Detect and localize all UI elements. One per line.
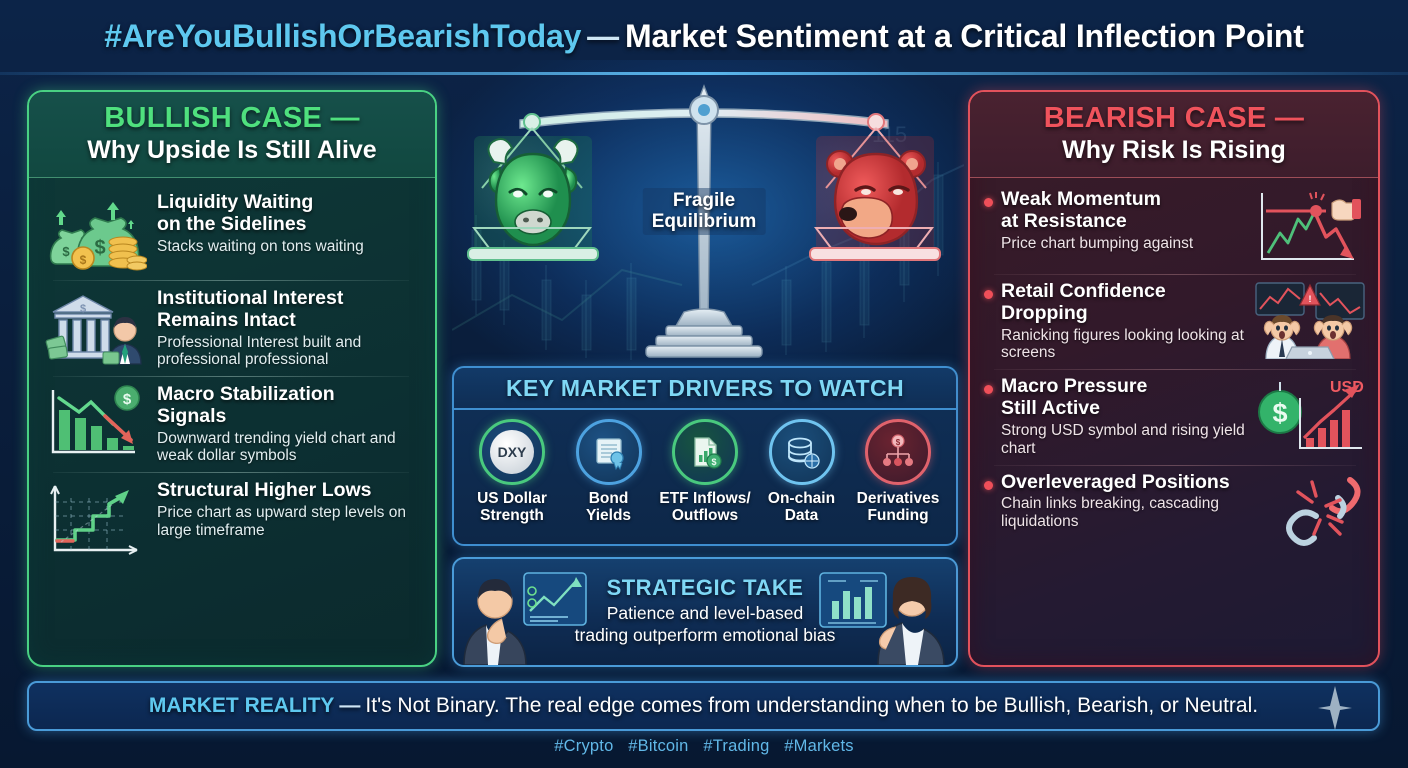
bearish-item-desc: Chain links breaking, cascading liquidat… [1001, 495, 1246, 531]
bullish-item-text: Structural Higher Lows Price chart as up… [157, 478, 419, 539]
bullish-item-title-l1: Institutional Interest [157, 288, 419, 310]
bearish-heading-line1: BEARISH CASE — [978, 102, 1370, 135]
bearish-items-list: Weak Momentum at Resistance Price chart … [970, 178, 1378, 565]
bullet-dot [984, 198, 993, 207]
bullish-item-title-l2: Remains Intact [157, 310, 419, 332]
bearish-heading-line2: Why Risk Is Rising [978, 136, 1370, 165]
strategic-take-title: STRATEGIC TAKE [454, 575, 956, 601]
driver-label-l1: Bond [561, 490, 657, 507]
fragile-equilibrium-label: Fragile Equilibrium [643, 188, 766, 235]
hashtag-trading[interactable]: #Trading [703, 737, 769, 755]
bearish-item-text: Retail Confidence Dropping Ranicking fig… [1001, 281, 1246, 362]
bearish-item-title-l1: Overleveraged Positions [1001, 472, 1246, 494]
svg-text:$: $ [62, 244, 70, 259]
bullish-item-desc: Professional Interest built and professi… [157, 334, 419, 370]
bearish-item-weak-momentum[interactable]: Weak Momentum at Resistance Price chart … [982, 182, 1368, 274]
bullish-case-panel: BULLISH CASE — Why Upside Is Still Alive… [27, 90, 437, 667]
bullish-item-title-l2: on the Sidelines [157, 214, 419, 236]
bullish-item-title-l1: Structural Higher Lows [157, 480, 419, 502]
svg-text:$: $ [80, 303, 86, 315]
drivers-grid: DXY US Dollar Strength [454, 410, 956, 524]
equilibrium-line2: Equilibrium [652, 212, 757, 233]
hashtag-row: #Crypto #Bitcoin #Trading #Markets [0, 737, 1408, 756]
svg-text:$: $ [94, 237, 105, 259]
bearish-item-text: Macro Pressure Still Active Strong USD s… [1001, 376, 1246, 457]
driver-label-l2: Data [754, 507, 850, 524]
bullish-heading-line1: BULLISH CASE — [37, 102, 427, 135]
bullish-item-title-l1: Macro Stabilization [157, 384, 419, 406]
bullish-item-macro[interactable]: $ Macro Stabilization Signals Downward t… [39, 376, 423, 472]
bullish-item-text: Macro Stabilization Signals Downward tre… [157, 382, 419, 465]
bearish-item-macro-pressure[interactable]: Macro Pressure Still Active Strong USD s… [982, 369, 1368, 464]
declining-bar-chart-dollar-icon: $ [43, 382, 147, 466]
driver-label-l2: Funding [850, 507, 946, 524]
bearish-item-desc: Price chart bumping against [1001, 235, 1246, 253]
market-reality-banner: MARKET REALITY—It's Not Binary. The real… [27, 681, 1380, 731]
bearish-case-panel: BEARISH CASE — Why Risk Is Rising Weak M… [968, 90, 1380, 667]
usd-rising-yield-icon: $ USD [1254, 376, 1366, 454]
bearish-item-desc: Strong USD symbol and rising yield chart [1001, 422, 1246, 458]
equilibrium-line1: Fragile [652, 191, 757, 212]
bullish-item-institutional[interactable]: $ [39, 280, 423, 376]
hashtag-crypto[interactable]: #Crypto [554, 737, 613, 755]
money-bags-coins-icon: $ $ $ [43, 190, 147, 274]
bearish-item-text: Weak Momentum at Resistance Price chart … [1001, 189, 1246, 252]
hashtag-bitcoin[interactable]: #Bitcoin [628, 737, 688, 755]
bullish-item-desc: Price chart as upward step levels on lar… [157, 504, 419, 540]
driver-label-l1: On-chain [754, 490, 850, 507]
strategic-take-line1: Patience and level-based [454, 603, 956, 623]
bearish-panel-header: BEARISH CASE — Why Risk Is Rising [970, 92, 1378, 178]
panicked-traders-screens-icon: ! [1254, 281, 1366, 359]
driver-derivatives-funding[interactable]: $ Derivatives Funding [850, 419, 946, 524]
driver-etf-flows[interactable]: $ ETF Inflows/ Outflows [657, 419, 753, 524]
etf-document-dollar-icon: $ [672, 419, 738, 485]
key-market-drivers-panel: KEY MARKET DRIVERS TO WATCH DXY US Dolla… [452, 366, 958, 546]
svg-text:USD: USD [1330, 379, 1364, 396]
derivatives-tree-dollar-icon: $ [865, 419, 931, 485]
svg-text:$: $ [123, 391, 132, 408]
header-divider [0, 72, 1408, 75]
breaking-chain-links-icon [1254, 472, 1366, 550]
page-title: #AreYouBullishOrBearishToday—Market Sent… [104, 18, 1303, 55]
bearish-item-retail-confidence[interactable]: Retail Confidence Dropping Ranicking fig… [982, 274, 1368, 369]
bearish-item-overleveraged[interactable]: Overleveraged Positions Chain links brea… [982, 465, 1368, 557]
driver-label-l1: US Dollar [464, 490, 560, 507]
bearish-item-title-l1: Retail Confidence [1001, 281, 1246, 303]
balance-scale-illustration: Fragile Equilibrium [452, 76, 956, 364]
falling-chart-thumbs-down-icon [1254, 189, 1366, 267]
title-dash: — [587, 18, 619, 54]
bullish-item-liquidity[interactable]: $ $ $ [39, 184, 423, 280]
bearish-item-title-l2: at Resistance [1001, 211, 1246, 233]
bullish-item-title-l1: Liquidity Waiting [157, 192, 419, 214]
sparkle-icon [1318, 686, 1352, 730]
title-main: Market Sentiment at a Critical Inflectio… [625, 18, 1304, 54]
bullish-item-desc: Downward trending yield chart and weak d… [157, 430, 419, 466]
strategic-take-panel: STRATEGIC TAKE Patience and level-based … [452, 557, 958, 667]
bullish-item-desc: Stacks waiting on tons waiting [157, 238, 419, 256]
driver-onchain-data[interactable]: On-chain Data [754, 419, 850, 524]
driver-us-dollar-strength[interactable]: DXY US Dollar Strength [464, 419, 560, 524]
title-hashtag: #AreYouBullishOrBearishToday [104, 18, 581, 54]
page-header: #AreYouBullishOrBearishToday—Market Sent… [0, 0, 1408, 72]
dxy-coin-icon: DXY [479, 419, 545, 485]
strategic-take-line2: trading outperform emotional bias [454, 625, 956, 645]
bullish-items-list: $ $ $ [29, 178, 435, 576]
market-reality-dash: — [339, 694, 360, 717]
driver-label-l1: ETF Inflows/ [657, 490, 753, 507]
driver-label-l2: Strength [464, 507, 560, 524]
driver-label-l2: Yields [561, 507, 657, 524]
bullet-dot [984, 385, 993, 394]
database-network-icon [769, 419, 835, 485]
market-reality-body: It's Not Binary. The real edge comes fro… [365, 694, 1258, 717]
driver-label-l1: Derivatives [850, 490, 946, 507]
bullish-panel-header: BULLISH CASE — Why Upside Is Still Alive [29, 92, 435, 178]
bullish-item-text: Institutional Interest Remains Intact Pr… [157, 286, 419, 369]
bearish-item-desc: Ranicking figures looking looking at scr… [1001, 327, 1246, 363]
driver-label-l2: Outflows [657, 507, 753, 524]
driver-bond-yields[interactable]: Bond Yields [561, 419, 657, 524]
svg-text:!: ! [1309, 294, 1312, 304]
bullish-item-text: Liquidity Waiting on the Sidelines Stack… [157, 190, 419, 255]
bullet-dot [984, 290, 993, 299]
market-reality-key: MARKET REALITY [149, 694, 335, 717]
rising-step-chart-icon [43, 478, 147, 562]
bullet-dot [984, 481, 993, 490]
svg-text:$: $ [1272, 398, 1287, 428]
bearish-item-title-l1: Macro Pressure [1001, 376, 1246, 398]
hashtag-markets[interactable]: #Markets [784, 737, 853, 755]
bearish-item-title-l1: Weak Momentum [1001, 189, 1246, 211]
bullish-item-title-l2: Signals [157, 406, 419, 428]
bearish-item-title-l2: Still Active [1001, 398, 1246, 420]
drivers-title: KEY MARKET DRIVERS TO WATCH [454, 368, 956, 410]
bearish-item-title-l2: Dropping [1001, 303, 1246, 325]
svg-text:$: $ [896, 438, 901, 447]
svg-text:$: $ [80, 253, 87, 267]
bearish-item-text: Overleveraged Positions Chain links brea… [1001, 472, 1246, 531]
bond-certificate-icon [576, 419, 642, 485]
strategic-take-text: STRATEGIC TAKE Patience and level-based … [454, 575, 956, 646]
bullish-item-higher-lows[interactable]: Structural Higher Lows Price chart as up… [39, 472, 423, 568]
bullish-heading-line2: Why Upside Is Still Alive [37, 136, 427, 165]
market-reality-text: MARKET REALITY—It's Not Binary. The real… [149, 694, 1258, 718]
bank-businessman-icon: $ [43, 286, 147, 370]
svg-text:$: $ [711, 457, 716, 467]
infographic-canvas: 115 #AreYouBullishOrBearishToday—Market … [0, 0, 1408, 768]
